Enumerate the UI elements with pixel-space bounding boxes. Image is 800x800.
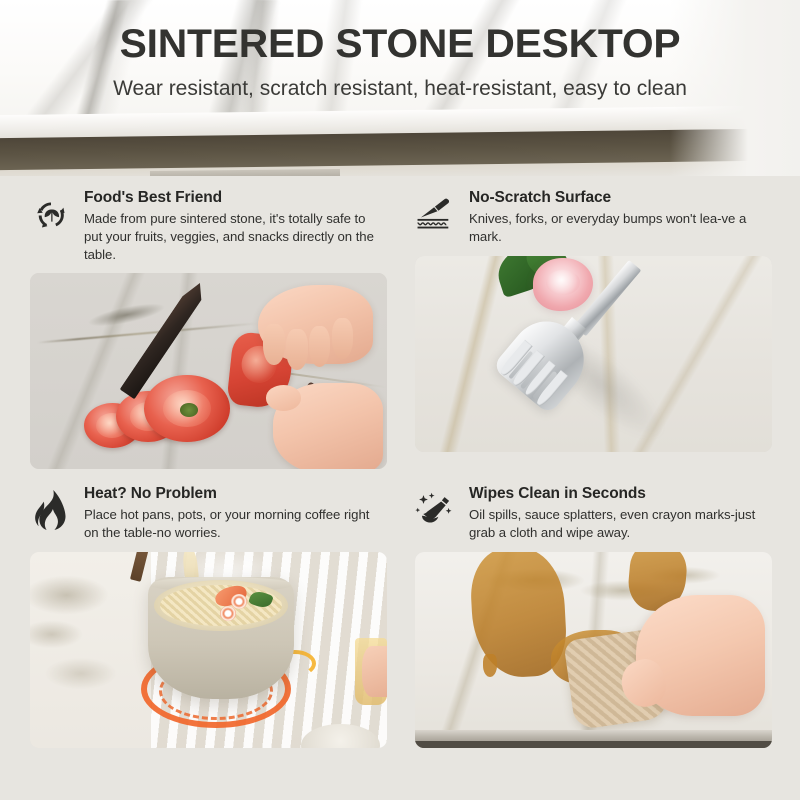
feature-grid: Food's Best Friend Made from pure sinter…	[0, 176, 800, 800]
product-infographic: SINTERED STONE DESKTOP Wear resistant, s…	[0, 0, 800, 800]
feature-photo-fork-marble	[415, 256, 772, 452]
knife-scratch-surface-icon	[415, 192, 457, 236]
feature-card-food-safe: Food's Best Friend Made from pure sinter…	[0, 176, 400, 472]
feature-header: Food's Best Friend Made from pure sinter…	[30, 188, 387, 263]
feature-description: Made from pure sintered stone, it's tota…	[84, 210, 387, 263]
feature-text: Food's Best Friend Made from pure sinter…	[84, 188, 387, 263]
feature-text: Heat? No Problem Place hot pans, pots, o…	[84, 484, 387, 542]
feature-header: Heat? No Problem Place hot pans, pots, o…	[30, 484, 387, 542]
feature-title: Wipes Clean in Seconds	[469, 484, 772, 503]
feature-title: Heat? No Problem	[84, 484, 387, 503]
feature-photo-hot-bowl	[30, 552, 387, 748]
feature-description: Knives, forks, or everyday bumps won't l…	[469, 210, 772, 245]
feature-card-easy-clean: Wipes Clean in Seconds Oil spills, sauce…	[400, 472, 800, 768]
feature-photo-tomato-cutting	[30, 273, 387, 469]
table-leg	[150, 169, 340, 176]
eco-leaf-recycle-icon	[30, 192, 72, 236]
feature-photo-wiping-spill	[415, 552, 772, 748]
page-title: SINTERED STONE DESKTOP	[0, 24, 800, 64]
feature-header: No-Scratch Surface Knives, forks, or eve…	[415, 188, 772, 246]
feature-description: Place hot pans, pots, or your morning co…	[84, 506, 387, 541]
table-edge-dark	[415, 741, 772, 748]
hand-holding-glass	[362, 646, 387, 697]
feature-card-no-scratch: No-Scratch Surface Knives, forks, or eve…	[400, 176, 800, 472]
feature-description: Oil spills, sauce splatters, even crayon…	[469, 506, 772, 541]
feature-text: Wipes Clean in Seconds Oil spills, sauce…	[469, 484, 772, 542]
marble-vein-cluster	[30, 552, 151, 748]
page-subtitle: Wear resistant, scratch resistant, heat-…	[0, 76, 800, 101]
feature-title: No-Scratch Surface	[469, 188, 772, 207]
flame-icon	[30, 488, 72, 532]
hero-banner: SINTERED STONE DESKTOP Wear resistant, s…	[0, 0, 800, 176]
wipe-sparkle-icon	[415, 488, 457, 532]
feature-text: No-Scratch Surface Knives, forks, or eve…	[469, 188, 772, 246]
thumb	[266, 385, 302, 410]
feature-title: Food's Best Friend	[84, 188, 387, 207]
feature-card-heat-resistant: Heat? No Problem Place hot pans, pots, o…	[0, 472, 400, 768]
feature-header: Wipes Clean in Seconds Oil spills, sauce…	[415, 484, 772, 542]
tomato-stem	[180, 403, 198, 417]
hand-holding-tomato	[258, 285, 372, 363]
noodle-bowl	[148, 577, 294, 699]
